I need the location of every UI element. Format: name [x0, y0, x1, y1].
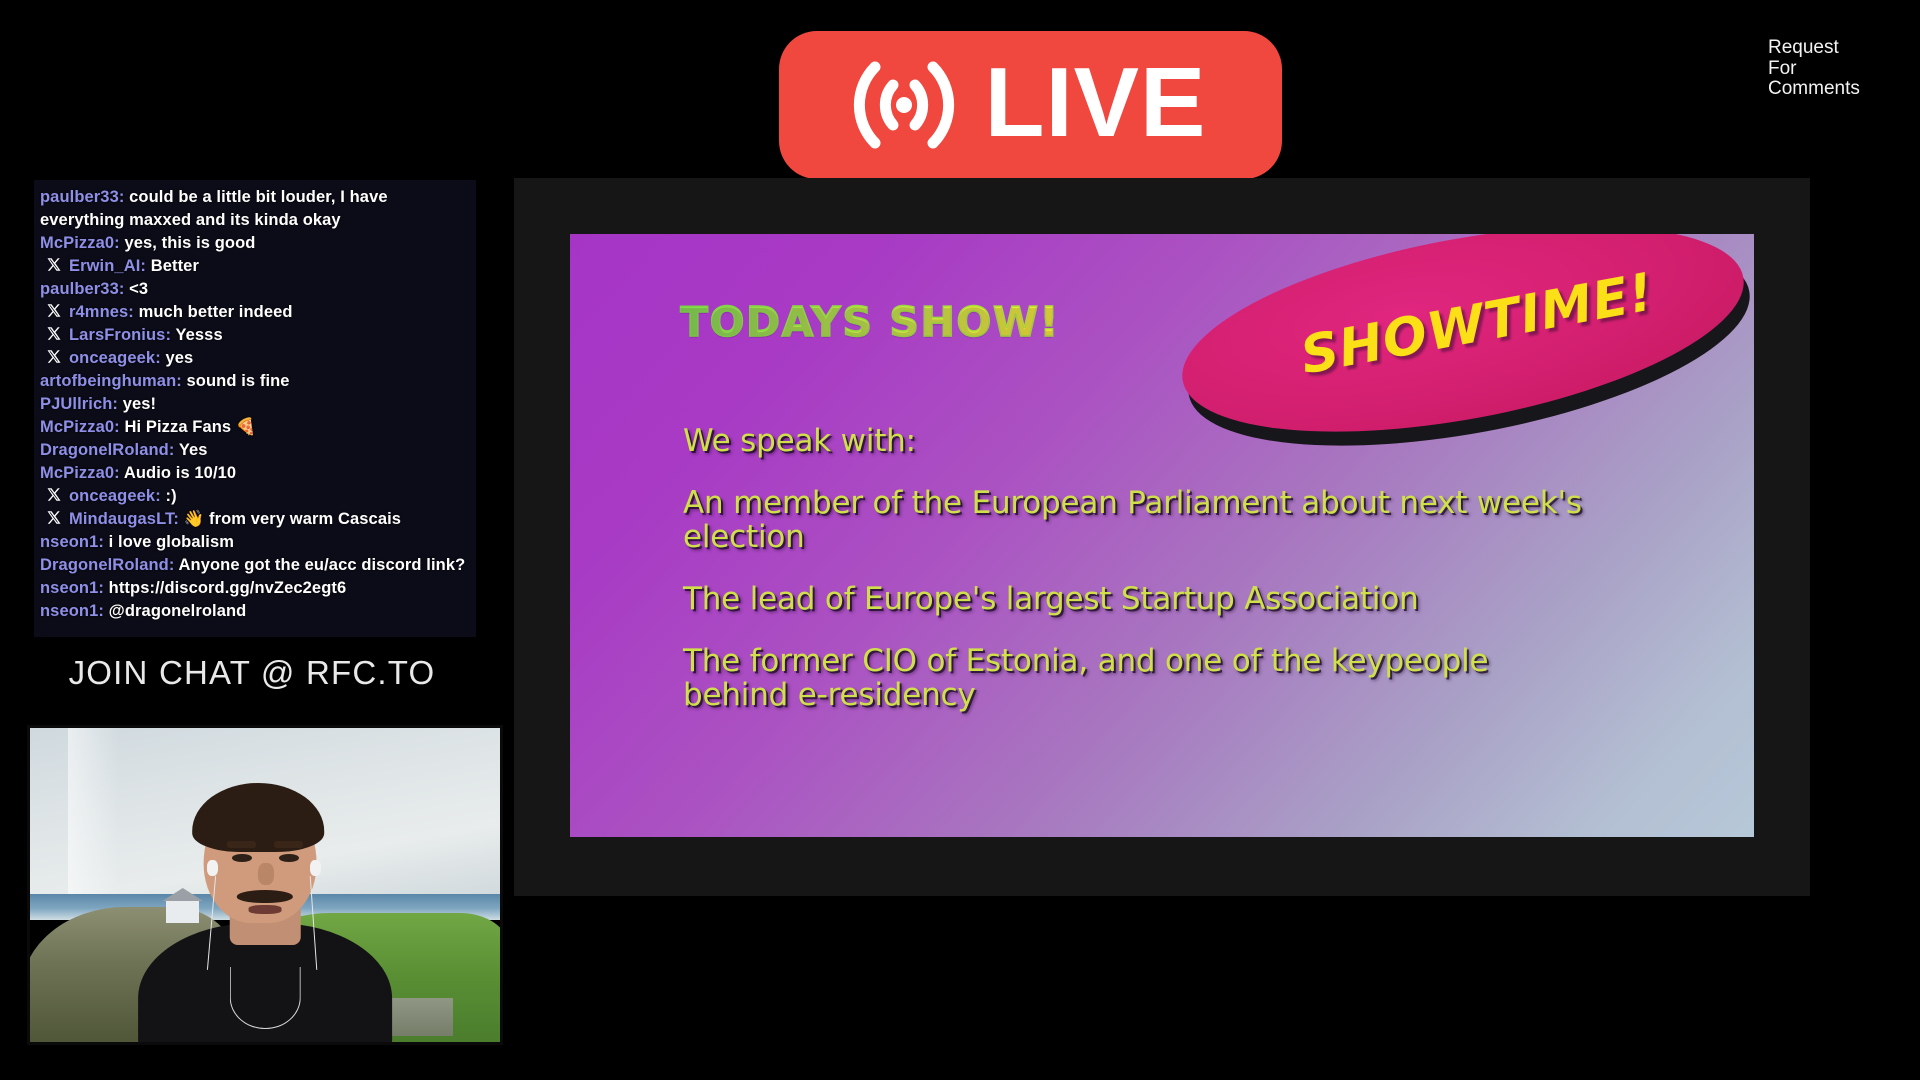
chat-username: onceageek: [69, 487, 161, 505]
brand-line-1: Request [1768, 38, 1908, 59]
chat-message: r4mnes: much better indeed [40, 301, 468, 324]
chat-username: Erwin_AI: [69, 257, 146, 275]
chat-username: DragonelRoland: [40, 441, 174, 459]
chat-message: DragonelRoland: Anyone got the eu/acc di… [40, 554, 468, 577]
chat-text: Hi Pizza Fans 🍕 [124, 418, 256, 436]
chat-message: paulber33: could be a little bit louder,… [40, 186, 468, 232]
chat-message: paulber33: <3 [40, 278, 468, 301]
chat-message: McPizza0: yes, this is good [40, 232, 468, 255]
host-webcam[interactable] [27, 725, 503, 1045]
x-platform-icon [46, 349, 61, 364]
chat-message: nseon1: @dragonelroland [40, 600, 468, 623]
broadcast-icon [845, 53, 963, 157]
showtime-badge: SHOWTIME! [1178, 239, 1748, 419]
chat-username: paulber33: [40, 188, 124, 206]
slide-title: TODAYS SHOW! [680, 298, 1060, 346]
eyebrow-left [227, 841, 255, 848]
chat-message: Erwin_AI: Better [40, 255, 468, 278]
chat-username: nseon1: [40, 533, 104, 551]
brand-line-2: For [1768, 59, 1908, 80]
chat-text: https://discord.gg/nvZec2egt6 [109, 579, 347, 597]
chat-username: LarsFronius: [69, 326, 171, 344]
chat-username: DragonelRoland: [40, 556, 174, 574]
chat-message: onceageek: :) [40, 485, 468, 508]
chat-text: Better [151, 257, 199, 275]
live-label: LIVE [985, 53, 1207, 151]
chat-username: artofbeinghuman: [40, 372, 182, 390]
moustache [237, 890, 293, 903]
x-platform-icon [46, 326, 61, 341]
nose [258, 863, 274, 885]
chat-text: i love globalism [109, 533, 234, 551]
chat-text: yes! [123, 395, 156, 413]
brand-line-3: Comments [1768, 79, 1908, 100]
live-badge: LIVE [779, 31, 1282, 179]
chat-username: MindaugasLT: [69, 510, 179, 528]
chat-text: Anyone got the eu/acc discord link? [179, 556, 466, 574]
chat-text: Yesss [175, 326, 222, 344]
chat-message: McPizza0: Hi Pizza Fans 🍕 [40, 416, 468, 439]
chat-text: sound is fine [187, 372, 290, 390]
chat-message: McPizza0: Audio is 10/10 [40, 462, 468, 485]
chat-message: DragonelRoland: Yes [40, 439, 468, 462]
x-platform-icon [46, 487, 61, 502]
chat-text: yes [165, 349, 193, 367]
x-platform-icon [46, 257, 61, 272]
chat-message: PJUllrich: yes! [40, 393, 468, 416]
chat-username: nseon1: [40, 602, 104, 620]
slide-paragraph: An member of the European Parliament abo… [683, 486, 1583, 554]
chat-text: <3 [129, 280, 148, 298]
chat-username: paulber33: [40, 280, 124, 298]
chat-text: 👋 from very warm Cascais [184, 510, 401, 528]
eye-left [232, 854, 252, 862]
host-person [30, 728, 500, 1042]
chat-username: nseon1: [40, 579, 104, 597]
chat-text: :) [165, 487, 176, 505]
hair [192, 783, 324, 852]
chat-username: McPizza0: [40, 418, 120, 436]
chat-username: McPizza0: [40, 464, 120, 482]
chat-text: Audio is 10/10 [124, 464, 236, 482]
earbud-right [310, 860, 321, 876]
chat-text: @dragonelroland [109, 602, 247, 620]
slide-paragraph: The lead of Europe's largest Startup Ass… [683, 582, 1583, 616]
chat-text: yes, this is good [124, 234, 255, 252]
join-chat-label: JOIN CHAT @ RFC.TO [62, 654, 442, 692]
x-platform-icon [46, 303, 61, 318]
chat-username: onceageek: [69, 349, 161, 367]
slide-body: We speak with:An member of the European … [683, 424, 1583, 712]
chat-panel[interactable]: paulber33: could be a little bit louder,… [34, 180, 476, 637]
chat-message: artofbeinghuman: sound is fine [40, 370, 468, 393]
necklace [230, 967, 301, 1030]
screenshare-frame: TODAYS SHOW! SHOWTIME! We speak with:An … [514, 178, 1810, 896]
slide-paragraph: We speak with: [683, 424, 1583, 458]
chat-username: McPizza0: [40, 234, 120, 252]
mouth [249, 905, 282, 913]
earbud-left [207, 860, 218, 876]
chat-text: Yes [179, 441, 208, 459]
presentation-slide[interactable]: TODAYS SHOW! SHOWTIME! We speak with:An … [570, 234, 1754, 837]
chat-message: MindaugasLT: 👋 from very warm Cascais [40, 508, 468, 531]
slide-paragraph: The former CIO of Estonia, and one of th… [683, 644, 1583, 712]
stream-layout: LIVE Request For Comments paulber33: cou… [0, 0, 1920, 1080]
chat-username: r4mnes: [69, 303, 134, 321]
chat-message: onceageek: yes [40, 347, 468, 370]
brand-request-for-comments: Request For Comments [1768, 38, 1908, 100]
chat-text: much better indeed [139, 303, 293, 321]
x-platform-icon [46, 510, 61, 525]
chat-message: LarsFronius: Yesss [40, 324, 468, 347]
chat-message: nseon1: https://discord.gg/nvZec2egt6 [40, 577, 468, 600]
chat-username: PJUllrich: [40, 395, 118, 413]
chat-message: nseon1: i love globalism [40, 531, 468, 554]
eye-right [279, 854, 299, 862]
eyebrow-right [274, 841, 302, 848]
